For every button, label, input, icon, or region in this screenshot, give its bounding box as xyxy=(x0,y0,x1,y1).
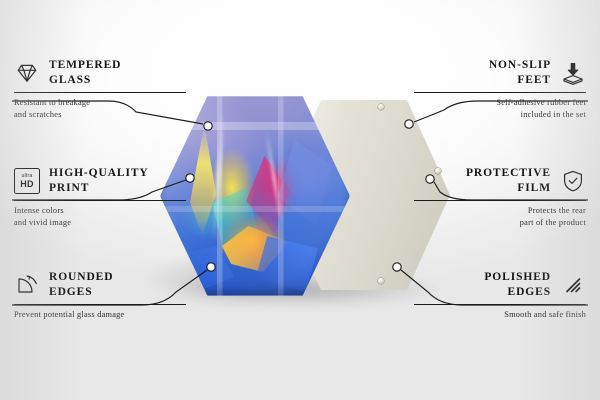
divider xyxy=(14,92,186,93)
divider xyxy=(414,92,586,93)
divider xyxy=(14,200,186,201)
feature-rounded-edges[interactable]: ROUNDED EDGES Prevent potential glass da… xyxy=(14,270,186,321)
feature-description: Prevent potential glass damage xyxy=(14,309,186,321)
ultra-hd-badge-icon: ultra HD xyxy=(14,168,40,194)
feature-header: ROUNDED EDGES xyxy=(14,270,186,300)
infographic-canvas: TEMPERED GLASS Resistant to breakage and… xyxy=(0,0,600,400)
feature-header: ultra HD HIGH-QUALITY PRINT xyxy=(14,166,186,196)
feature-header: PROTECTIVE FILM xyxy=(414,166,586,196)
feature-title: TEMPERED GLASS xyxy=(49,58,121,88)
feature-description: Intense colors and vivid image xyxy=(14,205,186,229)
divider xyxy=(14,304,186,305)
feature-title: NON-SLIP FEET xyxy=(489,58,551,88)
diagonal-lines-icon xyxy=(560,272,586,298)
diamond-icon xyxy=(14,60,40,86)
feature-description: Smooth and safe finish xyxy=(414,309,586,321)
product-image xyxy=(160,96,450,296)
feature-description: Resistant to breakage and scratches xyxy=(14,97,186,121)
feature-title: HIGH-QUALITY PRINT xyxy=(49,166,149,196)
feature-header: NON-SLIP FEET xyxy=(414,58,586,88)
feature-high-quality-print[interactable]: ultra HD HIGH-QUALITY PRINT Intense colo… xyxy=(14,166,186,229)
divider xyxy=(414,304,586,305)
badge-text-hd: HD xyxy=(20,180,33,189)
rounded-corner-icon xyxy=(14,272,40,298)
divider xyxy=(414,200,586,201)
feature-header: TEMPERED GLASS xyxy=(14,58,186,88)
screw-hole xyxy=(378,104,384,110)
feature-title: POLISHED EDGES xyxy=(484,270,551,300)
press-down-arrow-icon xyxy=(560,60,586,86)
feature-title: ROUNDED EDGES xyxy=(49,270,113,300)
feature-non-slip-feet[interactable]: NON-SLIP FEET Self-adhesive rubber feet … xyxy=(414,58,586,121)
screw-hole xyxy=(378,278,384,284)
shield-check-icon xyxy=(560,168,586,194)
feature-title: PROTECTIVE FILM xyxy=(466,166,551,196)
feature-tempered-glass[interactable]: TEMPERED GLASS Resistant to breakage and… xyxy=(14,58,186,121)
feature-description: Self-adhesive rubber feet included in th… xyxy=(414,97,586,121)
feature-description: Protects the rear part of the product xyxy=(414,205,586,229)
feature-protective-film[interactable]: PROTECTIVE FILM Protects the rear part o… xyxy=(414,166,586,229)
feature-header: POLISHED EDGES xyxy=(414,270,586,300)
feature-polished-edges[interactable]: POLISHED EDGES Smooth and safe finish xyxy=(414,270,586,321)
